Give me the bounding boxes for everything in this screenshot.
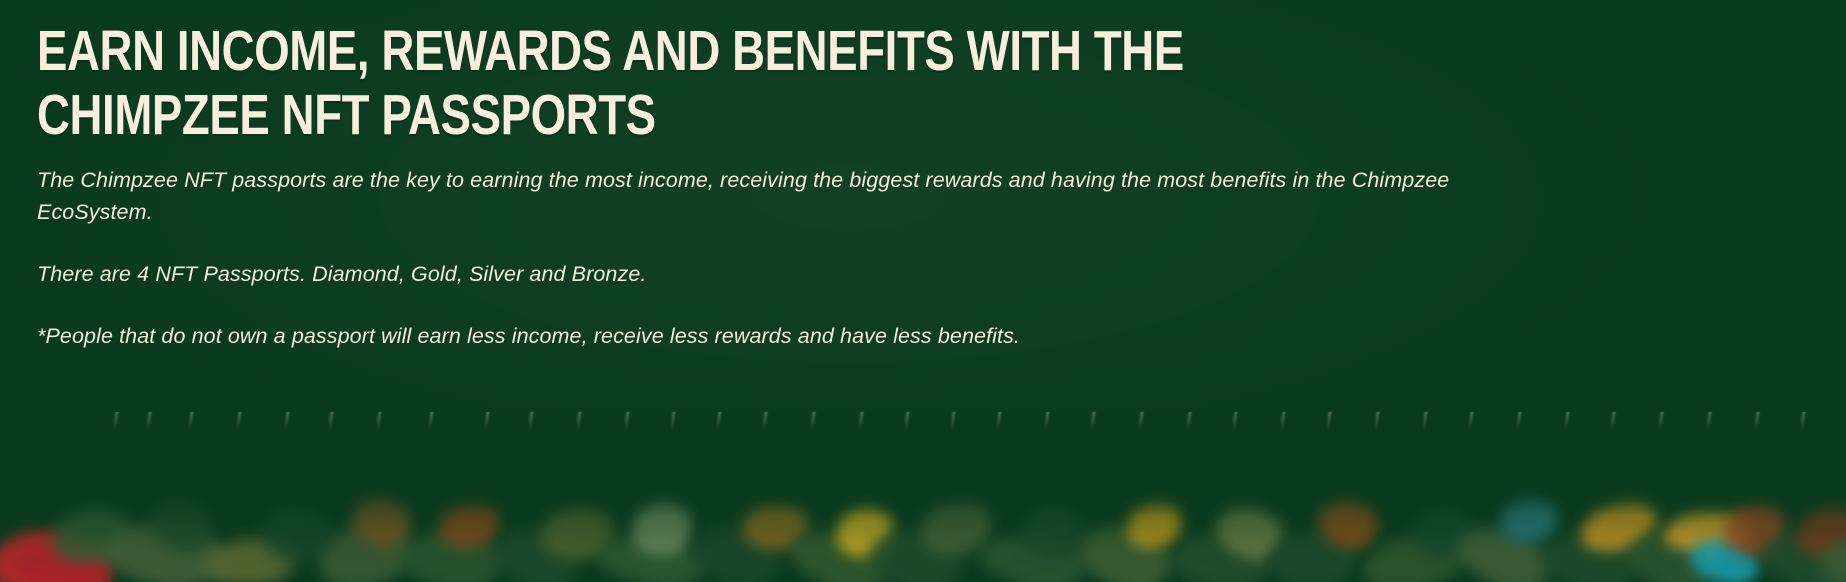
light-streak [996, 412, 1001, 430]
light-streak [904, 412, 909, 430]
confetti-blob [0, 530, 110, 582]
confetti-blob [1623, 522, 1724, 582]
light-streaks [0, 412, 1846, 438]
light-streak [1658, 412, 1663, 430]
light-streak [1044, 412, 1049, 430]
confetti-blob [832, 503, 898, 562]
confetti-blob [537, 504, 616, 563]
confetti-blob [593, 529, 709, 582]
light-streak [284, 412, 289, 430]
confetti-blob [740, 502, 809, 552]
light-streak [810, 412, 815, 430]
light-streak [1374, 412, 1379, 430]
confetti-blob [1755, 522, 1846, 582]
hero-content: EARN INCOME, REWARDS AND BENEFITS WITH T… [0, 0, 1846, 352]
light-streak [1422, 412, 1427, 430]
page-title: EARN INCOME, REWARDS AND BENEFITS WITH T… [37, 24, 981, 144]
light-streak [716, 412, 721, 430]
light-streak [950, 412, 955, 430]
light-streak [762, 412, 767, 430]
light-streak [624, 412, 629, 430]
confetti-blob [1791, 501, 1846, 564]
confetti-fade-mask [0, 412, 1846, 582]
headline-line-2: CHIMPZEE NFT PASSPORTS [37, 88, 981, 144]
paragraph-tiers: There are 4 NFT Passports. Diamond, Gold… [37, 258, 1512, 291]
confetti-blob [1537, 527, 1643, 582]
paragraph-footnote: *People that do not own a passport will … [37, 320, 1512, 353]
light-streak [576, 412, 581, 430]
light-streak [1706, 412, 1711, 430]
confetti-crowd-overlay [0, 412, 1846, 582]
light-streak [670, 412, 675, 430]
confetti-blob [915, 494, 997, 562]
confetti-blob [1072, 518, 1178, 582]
confetti-blob [1314, 494, 1383, 553]
light-streak [328, 412, 333, 430]
confetti-blob [143, 491, 221, 562]
light-streak [1186, 412, 1191, 430]
hero-section: EARN INCOME, REWARDS AND BENEFITS WITH T… [0, 0, 1846, 582]
confetti-blob [685, 517, 787, 582]
confetti-blob [1121, 496, 1188, 555]
confetti-blob [626, 495, 699, 563]
confetti-blob [1409, 502, 1480, 564]
light-streak [1232, 412, 1237, 430]
light-streak [1326, 412, 1331, 430]
confetti-blob [1450, 517, 1559, 582]
light-streak [1516, 412, 1521, 430]
confetti-blob [1721, 500, 1790, 560]
light-streak [528, 412, 533, 430]
confetti-blob [1686, 532, 1765, 582]
light-streak [1564, 412, 1569, 430]
confetti-blob [1575, 494, 1663, 560]
light-streak [1754, 412, 1759, 430]
light-streak [376, 412, 381, 430]
confetti-blob [865, 525, 967, 582]
confetti-blob [1265, 525, 1361, 582]
light-streak [858, 412, 863, 430]
confetti-blob [1168, 531, 1274, 582]
light-streak [188, 412, 193, 430]
light-streak [484, 412, 489, 430]
confetti-blob [486, 519, 587, 582]
light-streak [1610, 412, 1615, 430]
light-streak [113, 412, 118, 430]
confetti-blob [1663, 509, 1752, 555]
confetti-blob [46, 499, 135, 572]
confetti-blob [1210, 500, 1289, 567]
confetti-blob [782, 520, 894, 582]
confetti-blob [12, 539, 116, 582]
hero-body-copy: The Chimpzee NFT passports are the key t… [37, 164, 1846, 353]
light-streak [146, 412, 151, 430]
confetti-blob [1497, 493, 1562, 546]
confetti-blob [256, 498, 338, 571]
light-streak [236, 412, 241, 430]
light-streak [1280, 412, 1285, 430]
confetti-blob [1818, 534, 1846, 582]
headline-line-1: EARN INCOME, REWARDS AND BENEFITS WITH T… [37, 24, 981, 80]
confetti-blob [434, 498, 504, 554]
light-streak [1468, 412, 1473, 430]
confetti-blob [101, 518, 227, 582]
paragraph-intro: The Chimpzee NFT passports are the key t… [37, 164, 1512, 229]
confetti-blob [311, 511, 421, 582]
confetti-blob [1358, 526, 1471, 582]
confetti-blob [348, 493, 413, 550]
light-streak [1090, 412, 1095, 430]
confetti-blob [398, 528, 506, 582]
light-streak [1800, 412, 1805, 430]
light-streak [1138, 412, 1143, 430]
light-streak [428, 412, 433, 430]
confetti-blob [975, 529, 1090, 582]
confetti-blob [202, 532, 300, 582]
confetti-blob [1018, 502, 1087, 566]
